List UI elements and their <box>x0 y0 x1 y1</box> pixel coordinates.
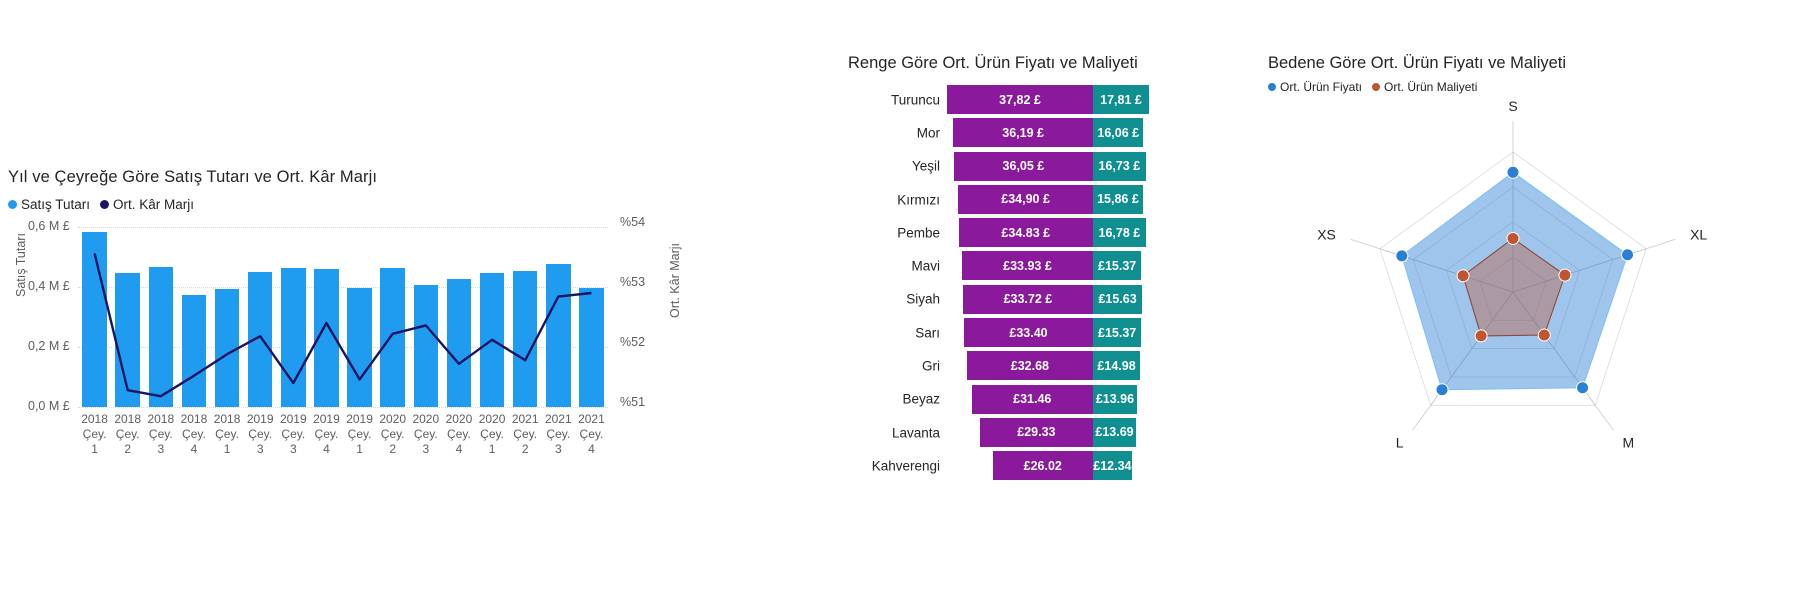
radar-axis-leader <box>1595 405 1613 430</box>
y-axis-right-label: Ort. Kâr Marjı <box>668 243 682 318</box>
row-label: Mavi <box>848 259 940 274</box>
x-tick-quarter: Çey. 2 <box>111 427 144 457</box>
y-tick-right-0: %54 <box>620 215 645 229</box>
x-tick-year: 2021 <box>542 412 575 427</box>
x-axis-tick-label: 2020Çey. 1 <box>476 412 509 457</box>
radar-plot-area[interactable]: SXLMLXS <box>1268 92 1808 562</box>
price-bar-segment[interactable]: £33.40 <box>964 318 1093 347</box>
price-bar-segment[interactable]: £32.68 <box>967 351 1093 380</box>
radar-axis-label-xs: XS <box>1317 226 1336 242</box>
price-bar-segment[interactable]: £33.72 £ <box>963 285 1093 314</box>
x-tick-quarter: Çey. 4 <box>177 427 210 457</box>
x-tick-quarter: Çey. 3 <box>144 427 177 457</box>
legend-label: Satış Tutarı <box>21 197 90 212</box>
cost-bar-segment[interactable]: 17,81 £ <box>1093 85 1149 114</box>
x-axis-tick-label: 2020Çey. 3 <box>409 412 442 457</box>
radar-data-point[interactable] <box>1622 249 1634 261</box>
row-label: Turuncu <box>848 92 940 107</box>
x-axis-tick-label: 2018Çey. 2 <box>111 412 144 457</box>
price-bar-segment[interactable]: £29.33 <box>980 418 1093 447</box>
y-tick-left-3: 0,0 M £ <box>28 399 70 413</box>
radar-data-point[interactable] <box>1538 329 1550 341</box>
x-tick-quarter: Çey. 2 <box>376 427 409 457</box>
price-bar-segment[interactable]: 36,19 £ <box>953 118 1093 147</box>
row-label: Sarı <box>848 325 940 340</box>
row-label: Beyaz <box>848 392 940 407</box>
table-row[interactable]: Siyah£33.72 £₤15.63 <box>848 283 1268 316</box>
y-tick-right-1: %53 <box>620 275 645 289</box>
row-label: Pembe <box>848 225 940 240</box>
x-axis-tick-label: 2021Çey. 4 <box>575 412 608 457</box>
cost-bar-segment[interactable]: 16,73 £ <box>1093 152 1146 181</box>
x-tick-year: 2020 <box>476 412 509 427</box>
radar-data-point[interactable] <box>1507 232 1519 244</box>
x-tick-quarter: Çey. 1 <box>78 427 111 457</box>
cost-bar-segment[interactable]: £15.37 <box>1093 318 1141 347</box>
x-tick-year: 2021 <box>575 412 608 427</box>
table-row[interactable]: Mavi£33.93 ££15.37 <box>848 249 1268 282</box>
radar-data-point[interactable] <box>1475 330 1487 342</box>
combo-chart-title: Yıl ve Çeyreğe Göre Satış Tutarı ve Ort.… <box>8 168 377 187</box>
table-row[interactable]: Kahverengi£26.02£12.34 <box>848 449 1268 482</box>
x-axis-tick-label: 2019Çey. 1 <box>343 412 376 457</box>
x-axis-tick-label: 2018Çey. 1 <box>211 412 244 457</box>
x-tick-quarter: Çey. 4 <box>575 427 608 457</box>
legend-label: Ort. Kâr Marjı <box>113 197 194 212</box>
row-label: Mor <box>848 125 940 140</box>
row-label: Gri <box>848 359 940 374</box>
legend-swatch-icon <box>8 200 17 209</box>
legend-swatch-icon <box>1268 83 1276 91</box>
radar-data-point[interactable] <box>1396 250 1408 262</box>
radar-axis-label-s: S <box>1508 98 1517 114</box>
size-price-cost-radar-chart[interactable]: Bedene Göre Ort. Ürün Fiyatı ve Maliyeti… <box>1268 0 1808 592</box>
x-axis-tick-label: 2021Çey. 2 <box>509 412 542 457</box>
combo-plot-area <box>78 227 608 407</box>
table-row[interactable]: Pembe£34.83 £16,78 £ <box>848 216 1268 249</box>
x-axis-tick-label: 2020Çey. 4 <box>442 412 475 457</box>
cost-bar-segment[interactable]: £13.69 <box>1093 418 1136 447</box>
legend-swatch-icon <box>100 200 109 209</box>
x-tick-year: 2018 <box>211 412 244 427</box>
cost-bar-segment[interactable]: 16,06 £ <box>1093 118 1143 147</box>
radar-data-point[interactable] <box>1577 382 1589 394</box>
price-bar-segment[interactable]: 36,05 £ <box>954 152 1093 181</box>
x-axis-tick-label: 2018Çey. 1 <box>78 412 111 457</box>
x-axis-tick-label: 2018Çey. 4 <box>177 412 210 457</box>
row-label: Kahverengi <box>848 458 940 473</box>
row-label: Yeşil <box>848 159 940 174</box>
radar-axis-label-l: L <box>1396 435 1404 451</box>
x-axis-tick-label: 2020Çey. 2 <box>376 412 409 457</box>
radar-axis-label-m: M <box>1622 435 1634 451</box>
x-tick-year: 2018 <box>78 412 111 427</box>
legend-swatch-icon <box>1372 83 1380 91</box>
x-tick-quarter: Çey. 3 <box>277 427 310 457</box>
x-tick-year: 2019 <box>310 412 343 427</box>
y-tick-left-1: 0,4 M £ <box>28 279 70 293</box>
radar-data-point[interactable] <box>1559 269 1571 281</box>
price-bar-segment[interactable]: £26.02 <box>993 451 1093 480</box>
cost-bar-segment[interactable]: £14.98 <box>1093 351 1140 380</box>
x-tick-quarter: Çey. 1 <box>343 427 376 457</box>
table-row[interactable]: Sarı£33.40£15.37 <box>848 316 1268 349</box>
x-axis-tick-label: 2019Çey. 3 <box>277 412 310 457</box>
x-axis-labels: 2018Çey. 12018Çey. 22018Çey. 32018Çey. 4… <box>78 412 608 458</box>
x-tick-year: 2020 <box>376 412 409 427</box>
x-tick-quarter: Çey. 3 <box>542 427 575 457</box>
combo-chart-legend[interactable]: Satış Tutarı Ort. Kâr Marjı <box>8 197 194 212</box>
x-tick-year: 2018 <box>144 412 177 427</box>
price-bar-segment[interactable]: 37,82 £ <box>947 85 1093 114</box>
price-bar-segment[interactable]: £34,90 £ <box>958 185 1093 214</box>
cost-bar-segment[interactable]: 16,78 £ <box>1093 218 1146 247</box>
radar-axis-label-xl: XL <box>1690 226 1707 242</box>
x-tick-quarter: Çey. 3 <box>409 427 442 457</box>
gridline <box>78 407 608 408</box>
row-label: Lavanta <box>848 425 940 440</box>
cost-bar-segment[interactable]: £13.96 <box>1093 385 1137 414</box>
x-tick-quarter: Çey. 4 <box>310 427 343 457</box>
y-tick-right-2: %52 <box>620 335 645 349</box>
radar-axis-leader <box>1646 239 1675 249</box>
table-row[interactable]: Lavanta£29.33£13.69 <box>848 416 1268 449</box>
x-tick-quarter: Çey. 4 <box>442 427 475 457</box>
table-chart-title: Renge Göre Ort. Ürün Fiyatı ve Maliyeti <box>848 54 1138 73</box>
row-label: Kırmızı <box>848 192 940 207</box>
table-row[interactable]: Beyaz£31.46£13.96 <box>848 383 1268 416</box>
cost-bar-segment[interactable]: £15.37 <box>1093 251 1141 280</box>
x-tick-year: 2019 <box>277 412 310 427</box>
sales-combo-chart[interactable]: Yıl ve Çeyreğe Göre Satış Tutarı ve Ort.… <box>0 0 800 592</box>
x-tick-quarter: Çey. 1 <box>476 427 509 457</box>
radar-chart-title: Bedene Göre Ort. Ürün Fiyatı ve Maliyeti <box>1268 54 1566 73</box>
table-row[interactable]: Kırmızı£34,90 £15,86 £ <box>848 183 1268 216</box>
radar-axis-leader <box>1351 239 1380 249</box>
x-tick-year: 2018 <box>111 412 144 427</box>
x-tick-year: 2020 <box>409 412 442 427</box>
legend-item-satis-tutari[interactable]: Satış Tutarı <box>8 197 90 212</box>
x-axis-tick-label: 2019Çey. 4 <box>310 412 343 457</box>
y-axis-left-label: Satış Tutarı <box>14 233 28 297</box>
table-row[interactable]: Mor36,19 £16,06 £ <box>848 116 1268 149</box>
x-tick-year: 2020 <box>442 412 475 427</box>
table-rows[interactable]: Turuncu37,82 £17,81 £Mor36,19 £16,06 £Ye… <box>848 83 1268 483</box>
x-axis-tick-label: 2018Çey. 3 <box>144 412 177 457</box>
x-tick-year: 2018 <box>177 412 210 427</box>
cost-bar-segment[interactable]: ₤15.63 <box>1093 285 1142 314</box>
radar-data-point[interactable] <box>1507 166 1519 178</box>
x-tick-year: 2019 <box>244 412 277 427</box>
x-tick-year: 2021 <box>509 412 542 427</box>
y-tick-right-3: %51 <box>620 395 645 409</box>
row-label: Siyah <box>848 292 940 307</box>
x-tick-quarter: Çey. 2 <box>509 427 542 457</box>
radar-axis-leader <box>1413 405 1431 430</box>
y-tick-left-2: 0,2 M £ <box>28 339 70 353</box>
cost-bar-segment[interactable]: £12.34 <box>1093 451 1132 480</box>
x-tick-year: 2019 <box>343 412 376 427</box>
line-path <box>95 253 592 396</box>
price-bar-segment[interactable]: £33.93 £ <box>962 251 1093 280</box>
x-axis-tick-label: 2021Çey. 3 <box>542 412 575 457</box>
cost-bar-segment[interactable]: 15,86 £ <box>1093 185 1143 214</box>
radar-data-point[interactable] <box>1457 270 1469 282</box>
table-row[interactable]: Gri£32.68£14.98 <box>848 349 1268 382</box>
profit-margin-line-series[interactable] <box>78 227 608 407</box>
price-bar-segment[interactable]: £34.83 £ <box>959 218 1093 247</box>
x-tick-quarter: Çey. 3 <box>244 427 277 457</box>
table-row[interactable]: Turuncu37,82 £17,81 £ <box>848 83 1268 116</box>
y-tick-left-0: 0,6 M £ <box>28 219 70 233</box>
x-axis-tick-label: 2019Çey. 3 <box>244 412 277 457</box>
legend-item-ort-kar-marji[interactable]: Ort. Kâr Marjı <box>100 197 194 212</box>
table-row[interactable]: Yeşil36,05 £16,73 £ <box>848 150 1268 183</box>
price-bar-segment[interactable]: £31.46 <box>972 385 1093 414</box>
x-tick-quarter: Çey. 1 <box>211 427 244 457</box>
radar-data-point[interactable] <box>1436 384 1448 396</box>
color-price-cost-chart[interactable]: Renge Göre Ort. Ürün Fiyatı ve Maliyeti … <box>848 0 1268 592</box>
